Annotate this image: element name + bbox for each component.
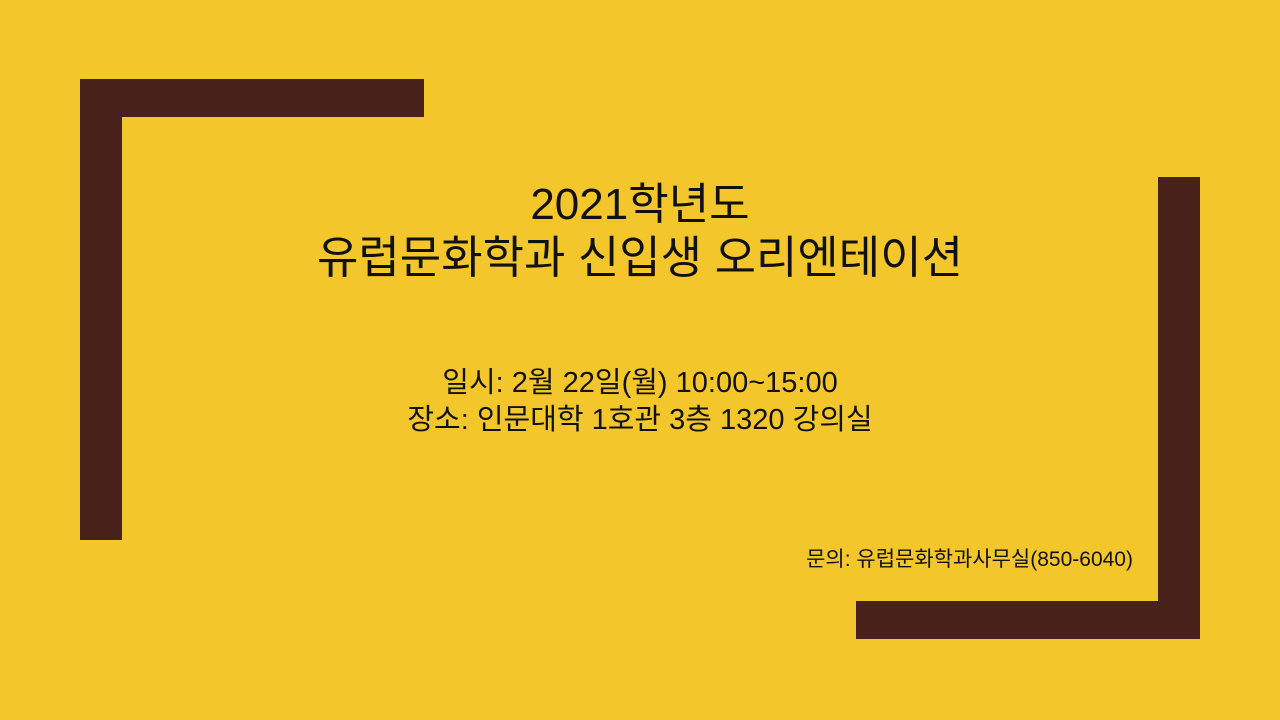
contact-office-phone: 문의: 유럽문화학과사무실(850-6040) (806, 546, 1133, 574)
corner-bracket-top-left-vertical-bar (80, 79, 122, 540)
event-location: 장소: 인문대학 1호관 3층 1320 강의실 (0, 402, 1280, 439)
poster-title-line-2: 유럽문화학과 신입생 오리엔테이션 (0, 231, 1280, 284)
poster-title-line-1: 2021학년도 (0, 178, 1280, 231)
corner-bracket-bottom-right-horizontal-bar (856, 601, 1200, 639)
contact-info: 문의: 유럽문화학과사무실(850-6040) (0, 546, 1280, 574)
poster-title: 2021학년도 유럽문화학과 신입생 오리엔테이션 (0, 178, 1280, 284)
event-details: 일시: 2월 22일(월) 10:00~15:00 장소: 인문대학 1호관 3… (0, 365, 1280, 439)
event-datetime: 일시: 2월 22일(월) 10:00~15:00 (0, 365, 1280, 402)
orientation-poster: 2021학년도 유럽문화학과 신입생 오리엔테이션 일시: 2월 22일(월) … (0, 0, 1280, 720)
corner-bracket-top-left-horizontal-bar (80, 79, 424, 117)
